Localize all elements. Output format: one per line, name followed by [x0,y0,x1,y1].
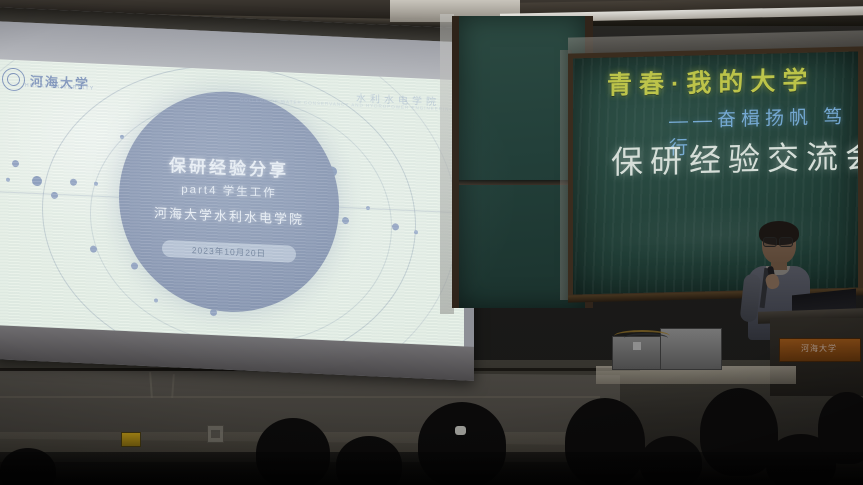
decorative-dot [94,182,98,186]
decorative-dot [392,223,399,230]
decorative-dot [12,160,19,167]
foreground-shadow [0,452,863,485]
decorative-dot [51,192,58,199]
decorative-dot [6,178,10,182]
decorative-dot [414,230,418,234]
hair-clip [455,426,466,435]
wall-rail [0,396,600,398]
lecture-hall-photo: 河海大学 HOHAI UNIVERSITY 水利水电学院 COLLEGE OF … [0,0,863,485]
blackboard-line-2: ——奋楫扬帆 笃行 [669,102,858,161]
blackboard-line-3: 保研经验交流会 [611,131,858,184]
decorative-dot [120,135,124,139]
presentation-slide: 河海大学 HOHAI UNIVERSITY 水利水电学院 COLLEGE OF … [0,59,464,348]
power-outlet-icon [207,425,224,443]
decorative-dot [366,206,370,210]
electrical-box-icon [121,432,141,447]
decorative-dot [32,176,42,186]
case-latch [633,342,641,350]
blackboard-line-1: 青春·我的大学 [607,61,814,102]
decorative-dot [90,245,97,252]
cable-black [624,333,668,343]
decorative-dot [70,179,77,186]
podium-sign-text: 河海大学 [781,343,857,354]
hohai-seal-icon [2,67,25,91]
eyeglasses-icon [763,237,793,245]
decorative-dot [131,262,138,269]
decorative-dot [154,298,158,302]
projection-screen: 河海大学 HOHAI UNIVERSITY 水利水电学院 COLLEGE OF … [0,7,474,381]
